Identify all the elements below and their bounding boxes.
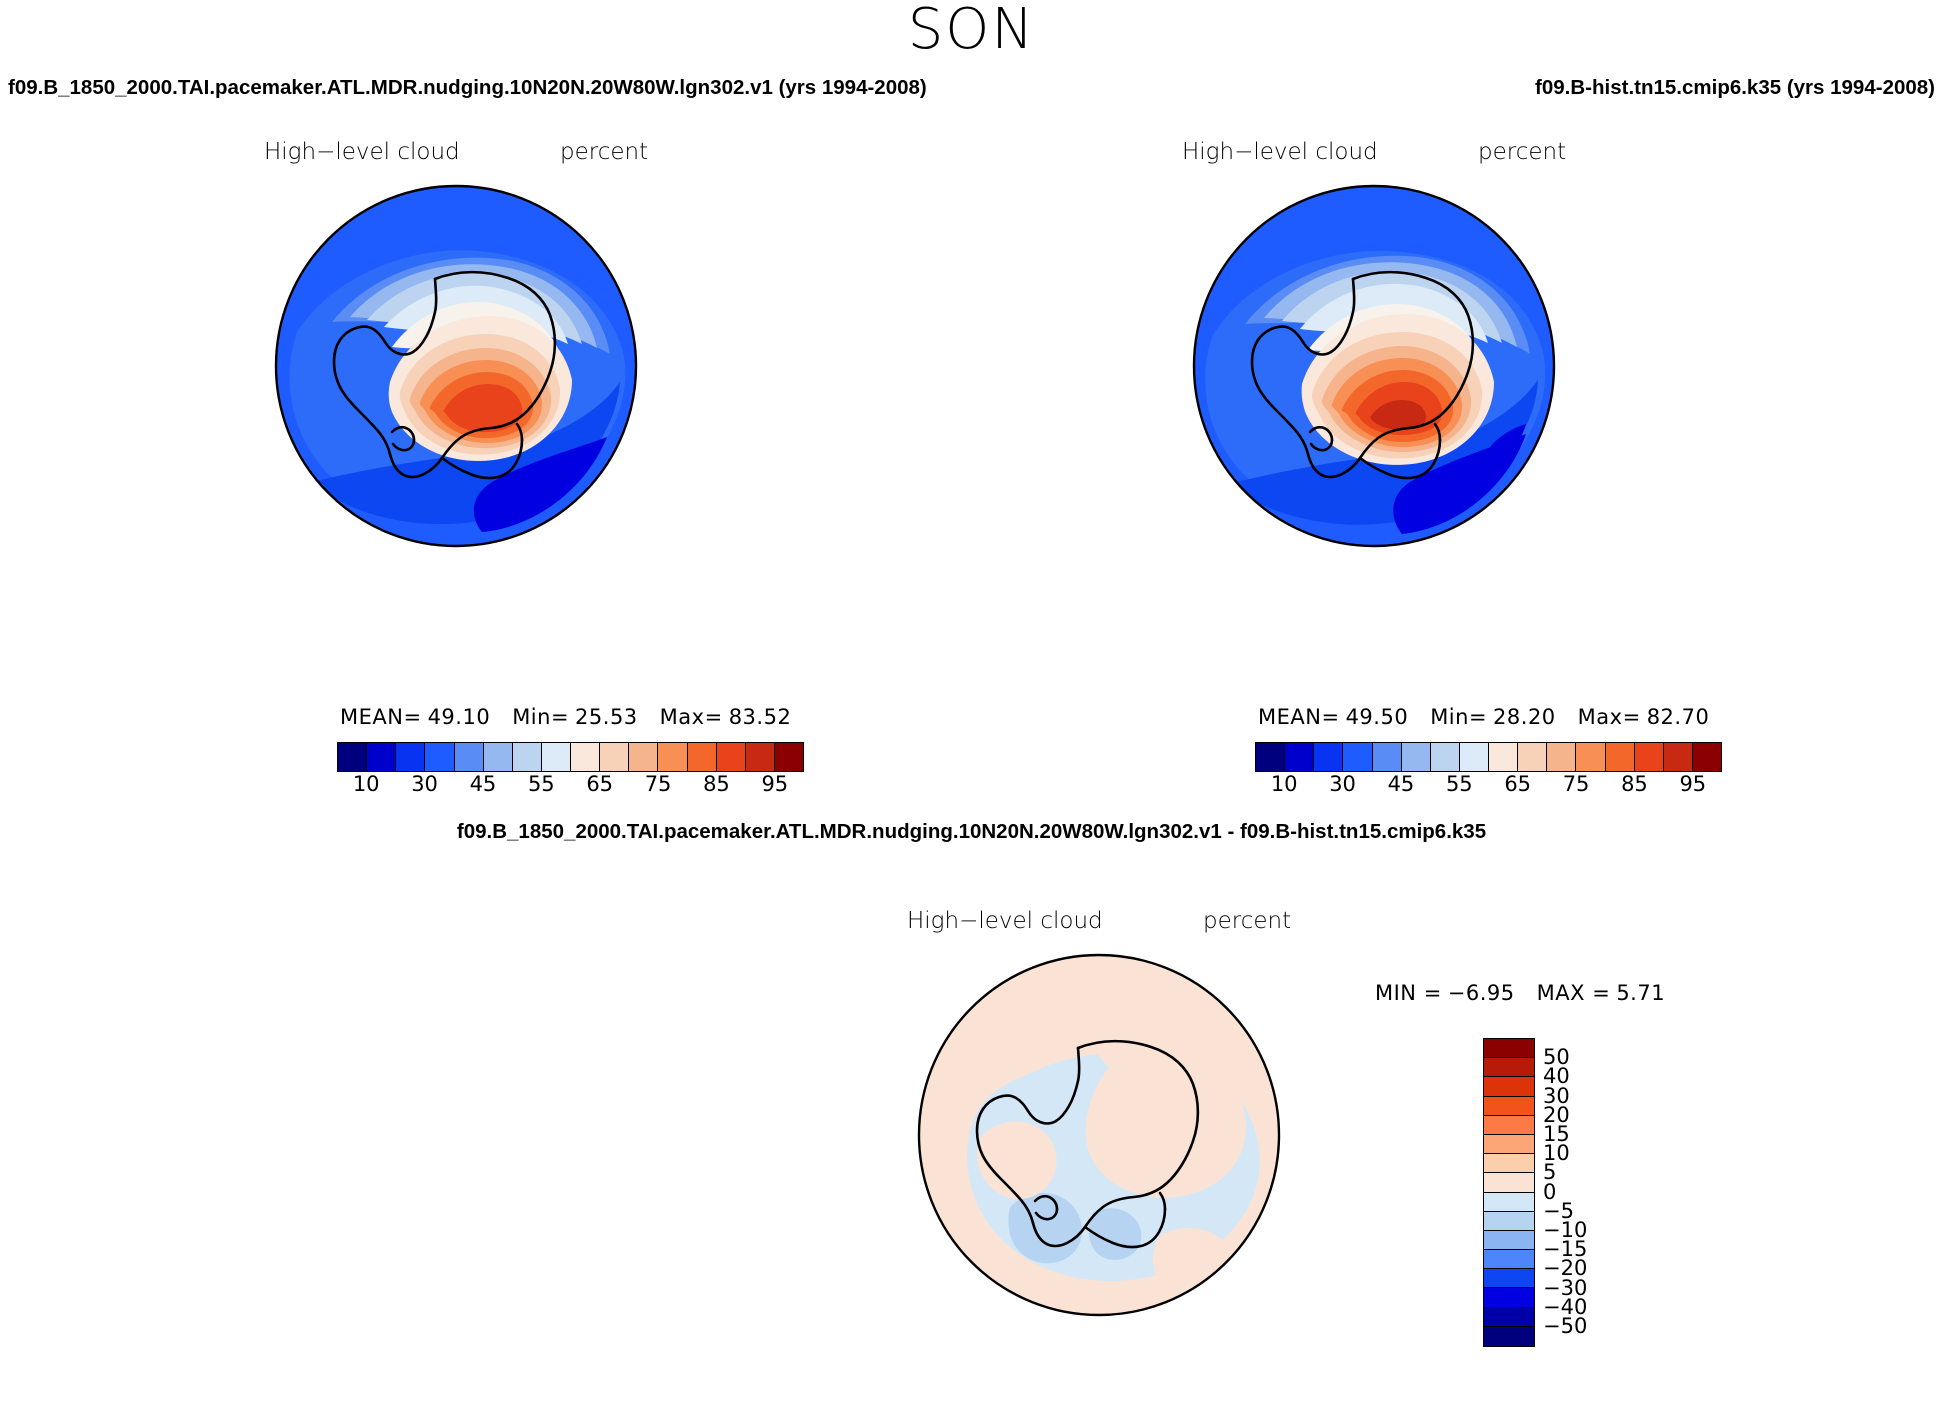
colorbar-swatch <box>513 743 542 771</box>
colorbar-swatch <box>1256 743 1285 771</box>
colorbar-tick-label: 85 <box>1621 772 1648 796</box>
right-map-globe <box>1190 182 1558 550</box>
difference-colorbar <box>1483 1038 1535 1347</box>
colorbar-swatch <box>629 743 658 771</box>
colorbar-tick-label: 45 <box>1388 772 1415 796</box>
right-max-label: Max= <box>1578 705 1641 729</box>
colorbar-swatch <box>1518 743 1547 771</box>
colorbar-tick-label: 95 <box>761 772 788 796</box>
left-mean-value: 49.10 <box>428 705 491 729</box>
colorbar-tick-label: 30 <box>411 772 438 796</box>
right-mean-label: MEAN= <box>1258 705 1340 729</box>
right-mean-value: 49.50 <box>1346 705 1409 729</box>
colorbar-swatch <box>1484 1269 1534 1288</box>
colorbar-swatch <box>1547 743 1576 771</box>
colorbar-swatch <box>1484 1173 1534 1192</box>
difference-min-value: −6.95 <box>1448 981 1515 1005</box>
colorbar-swatch <box>717 743 746 771</box>
colorbar-swatch <box>1484 1308 1534 1327</box>
colorbar-swatch <box>396 743 425 771</box>
left-min-label: Min= <box>512 705 569 729</box>
colorbar-tick-label: 75 <box>645 772 672 796</box>
colorbar-swatch <box>1484 1231 1534 1250</box>
left-max-label: Max= <box>660 705 723 729</box>
colorbar-swatch <box>1606 743 1635 771</box>
difference-stats-row: MIN =−6.95MAX =5.71 <box>1375 981 1665 1005</box>
colorbar-tick-label: 55 <box>528 772 555 796</box>
difference-max-label: MAX = <box>1537 981 1611 1005</box>
difference-min-label: MIN = <box>1375 981 1442 1005</box>
colorbar-swatch <box>1484 1288 1534 1307</box>
left-min-value: 25.53 <box>575 705 638 729</box>
right-max-value: 82.70 <box>1647 705 1710 729</box>
colorbar-swatch <box>1285 743 1314 771</box>
colorbar-swatch <box>1484 1327 1534 1346</box>
right-colorbar <box>1255 742 1722 772</box>
left-colorbar <box>337 742 804 772</box>
colorbar-swatch <box>688 743 717 771</box>
right-colorbar-labels: 1030455565758595 <box>1255 772 1722 802</box>
colorbar-swatch <box>455 743 484 771</box>
colorbar-swatch <box>1484 1116 1534 1135</box>
colorbar-swatch <box>746 743 775 771</box>
colorbar-swatch <box>775 743 803 771</box>
colorbar-tick-label: 30 <box>1329 772 1356 796</box>
colorbar-swatch <box>1484 1058 1534 1077</box>
colorbar-swatch <box>1460 743 1489 771</box>
colorbar-tick-label: 95 <box>1679 772 1706 796</box>
colorbar-swatch <box>1373 743 1402 771</box>
difference-max-value: 5.71 <box>1616 981 1665 1005</box>
case-title-left: f09.B_1850_2000.TAI.pacemaker.ATL.MDR.nu… <box>8 76 927 100</box>
colorbar-tick-label: 10 <box>1271 772 1298 796</box>
colorbar-swatch <box>1484 1135 1534 1154</box>
difference-units-label: percent <box>1203 908 1291 934</box>
colorbar-swatch <box>1664 743 1693 771</box>
colorbar-swatch <box>1489 743 1518 771</box>
difference-title: f09.B_1850_2000.TAI.pacemaker.ATL.MDR.nu… <box>0 820 1943 844</box>
case-title-right: f09.B-hist.tn15.cmip6.k35 (yrs 1994-2008… <box>1535 76 1935 100</box>
colorbar-swatch <box>1431 743 1460 771</box>
colorbar-swatch <box>1484 1077 1534 1096</box>
colorbar-swatch <box>658 743 687 771</box>
colorbar-swatch <box>571 743 600 771</box>
left-colorbar-labels: 1030455565758595 <box>337 772 804 802</box>
left-variable-label: High−level cloud <box>264 139 460 165</box>
right-variable-label: High−level cloud <box>1182 139 1378 165</box>
colorbar-swatch <box>1484 1250 1534 1269</box>
left-map-globe <box>272 182 640 550</box>
difference-map-globe <box>915 951 1283 1319</box>
colorbar-swatch <box>1402 743 1431 771</box>
season-title: SON <box>0 2 1943 58</box>
left-units-label: percent <box>560 139 648 165</box>
colorbar-tick-label: 55 <box>1446 772 1473 796</box>
colorbar-swatch <box>1693 743 1721 771</box>
colorbar-tick-label: 85 <box>703 772 730 796</box>
colorbar-tick-label: 10 <box>353 772 380 796</box>
right-min-label: Min= <box>1430 705 1487 729</box>
left-stats-row: MEAN=49.10Min=25.53Max=83.52 <box>340 705 813 729</box>
difference-colorbar-labels: 50403020151050−5−10−15−20−30−40−50 <box>1543 1038 1613 1345</box>
colorbar-swatch <box>1314 743 1343 771</box>
colorbar-swatch <box>1484 1039 1534 1058</box>
colorbar-swatch <box>367 743 396 771</box>
colorbar-tick-label: 45 <box>470 772 497 796</box>
colorbar-swatch <box>1484 1097 1534 1116</box>
left-max-value: 83.52 <box>729 705 792 729</box>
colorbar-swatch <box>338 743 367 771</box>
right-units-label: percent <box>1478 139 1566 165</box>
colorbar-swatch <box>1484 1193 1534 1212</box>
colorbar-swatch <box>484 743 513 771</box>
left-mean-label: MEAN= <box>340 705 422 729</box>
colorbar-tick-label: 75 <box>1563 772 1590 796</box>
colorbar-swatch <box>600 743 629 771</box>
colorbar-tick-label: −50 <box>1543 1314 1587 1338</box>
colorbar-tick-label: 65 <box>1504 772 1531 796</box>
colorbar-swatch <box>1484 1212 1534 1231</box>
colorbar-tick-label: 65 <box>586 772 613 796</box>
colorbar-swatch <box>1484 1154 1534 1173</box>
colorbar-swatch <box>425 743 454 771</box>
difference-variable-label: High−level cloud <box>907 908 1103 934</box>
right-stats-row: MEAN=49.50Min=28.20Max=82.70 <box>1258 705 1731 729</box>
colorbar-swatch <box>542 743 571 771</box>
right-min-value: 28.20 <box>1493 705 1556 729</box>
colorbar-swatch <box>1635 743 1664 771</box>
colorbar-swatch <box>1576 743 1605 771</box>
colorbar-swatch <box>1343 743 1372 771</box>
